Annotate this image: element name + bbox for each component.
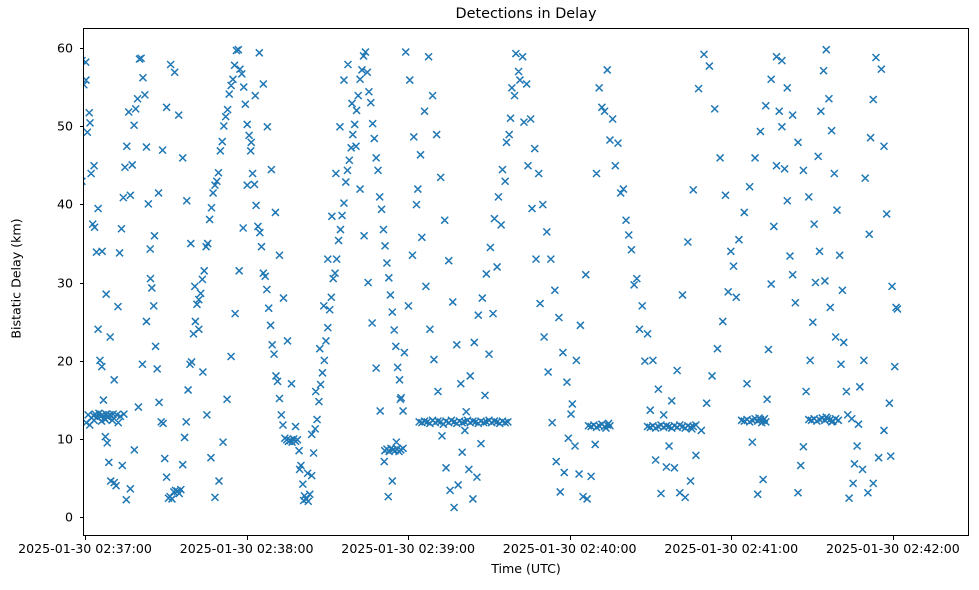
y-tick-mark [80,126,84,127]
x-tick-label: 2025-01-30 02:38:00 [180,541,314,556]
x-tick-mark [570,536,571,540]
x-tick-mark [247,536,248,540]
x-tick-mark [893,536,894,540]
y-tick-label: 60 [0,41,73,56]
y-tick-mark [80,204,84,205]
x-tick-label: 2025-01-30 02:37:00 [18,541,152,556]
x-axis-label: Time (UTC) [83,561,969,576]
plot-area[interactable] [83,28,969,536]
x-tick-label: 2025-01-30 02:42:00 [826,541,960,556]
x-tick-label: 2025-01-30 02:40:00 [503,541,637,556]
page-title: Detections in Delay [83,6,969,23]
x-tick-mark [408,536,409,540]
y-tick-label: 0 [0,510,73,525]
y-axis-label: Bistatic Delay (km) [9,159,24,399]
scatter-series [84,29,968,535]
y-tick-mark [80,517,84,518]
y-tick-label: 50 [0,119,73,134]
scatter-markers [84,46,901,511]
y-tick-mark [80,439,84,440]
y-tick-mark [80,361,84,362]
y-tick-mark [80,283,84,284]
y-tick-mark [80,48,84,49]
x-tick-label: 2025-01-30 02:41:00 [664,541,798,556]
x-tick-mark [85,536,86,540]
figure-canvas: Detections in Delay 2025-01-30 02:37:00 … [0,0,979,590]
x-tick-label: 2025-01-30 02:39:00 [341,541,475,556]
x-tick-mark [731,536,732,540]
y-tick-label: 10 [0,431,73,446]
